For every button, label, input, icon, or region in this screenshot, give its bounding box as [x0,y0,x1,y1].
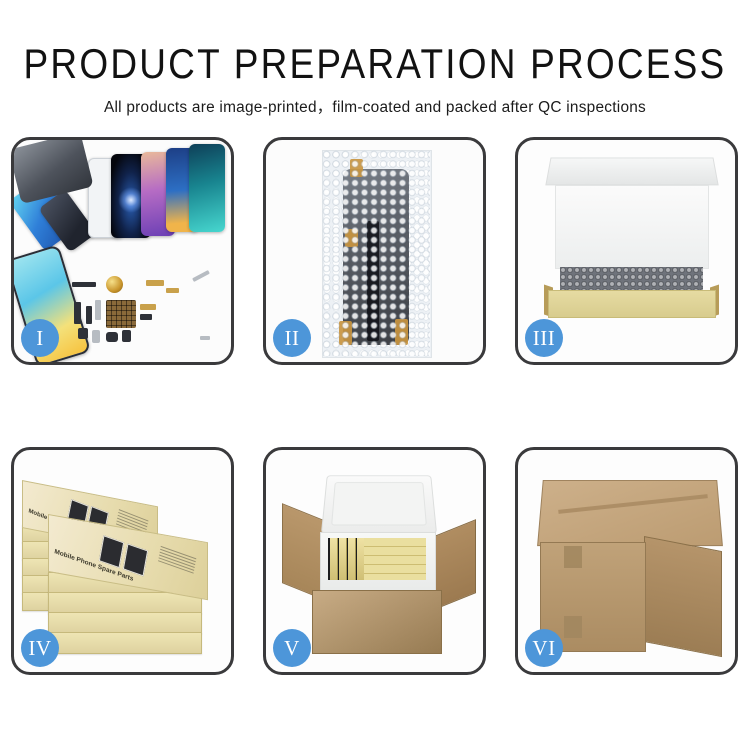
carton-tape-mark [564,546,582,568]
step-badge-3: III [525,319,563,357]
step-badge-1: I [21,319,59,357]
mesh-pad-part [106,300,136,328]
carton-body [312,590,442,654]
screw-part [200,336,210,340]
gold-connector [395,319,408,345]
bubble-wrap-bag [322,150,432,358]
step-panel-2[interactable]: II [263,137,486,365]
spare-part-chip [72,282,96,287]
spare-part-chip [140,314,152,320]
flex-cable [367,221,379,341]
step-badge-4: IV [21,629,59,667]
step-panel-3[interactable]: III [515,137,738,365]
gold-connector [345,229,358,247]
foam-lid [321,475,437,533]
phone-teal [189,144,225,232]
gold-connector [350,159,363,177]
step-badge-6: VI [525,629,563,667]
step-panel-4[interactable]: Mobile Phone Spare Parts Mobile Phone Sp… [11,447,234,675]
retail-box-edge [48,612,202,634]
screwdriver-tool [192,270,210,282]
spare-part-chip [106,332,118,342]
retail-box-edge [48,592,202,614]
foam-sheet [555,185,709,269]
spare-part-chip [146,280,164,286]
spare-part-chip [122,330,131,342]
gold-connector [339,321,352,345]
packed-retail-boxes [328,538,426,580]
spare-part-chip [78,328,88,339]
spare-part-chip [74,302,81,324]
carton-tape-mark [564,616,582,638]
spare-part-chip [86,306,92,324]
carton-front-panel [548,290,716,318]
retail-box-window [123,543,148,576]
page-title: PRODUCT PREPARATION PROCESS [0,42,750,87]
phone-back-housing [14,140,94,204]
speaker-coil-part [106,276,123,293]
carton-right-face [644,536,722,657]
process-steps-grid: I II III [11,137,739,675]
step-badge-2: II [273,319,311,357]
retail-box-spec-lines [158,546,197,576]
spare-part-chip [95,300,101,320]
spare-part-chip [92,330,100,343]
step-panel-6[interactable]: VI [515,447,738,675]
page-subtitle: All products are image-printed，film-coat… [0,95,750,117]
spare-part-chip [166,288,179,293]
page-header: PRODUCT PREPARATION PROCESS All products… [0,0,750,117]
spare-part-chip [140,304,156,310]
step-badge-5: V [273,629,311,667]
step-panel-1[interactable]: I [11,137,234,365]
carton-lid-flap [545,158,718,186]
step-panel-5[interactable]: V [263,447,486,675]
retail-box-edge [48,632,202,654]
retail-box-window [99,535,124,568]
